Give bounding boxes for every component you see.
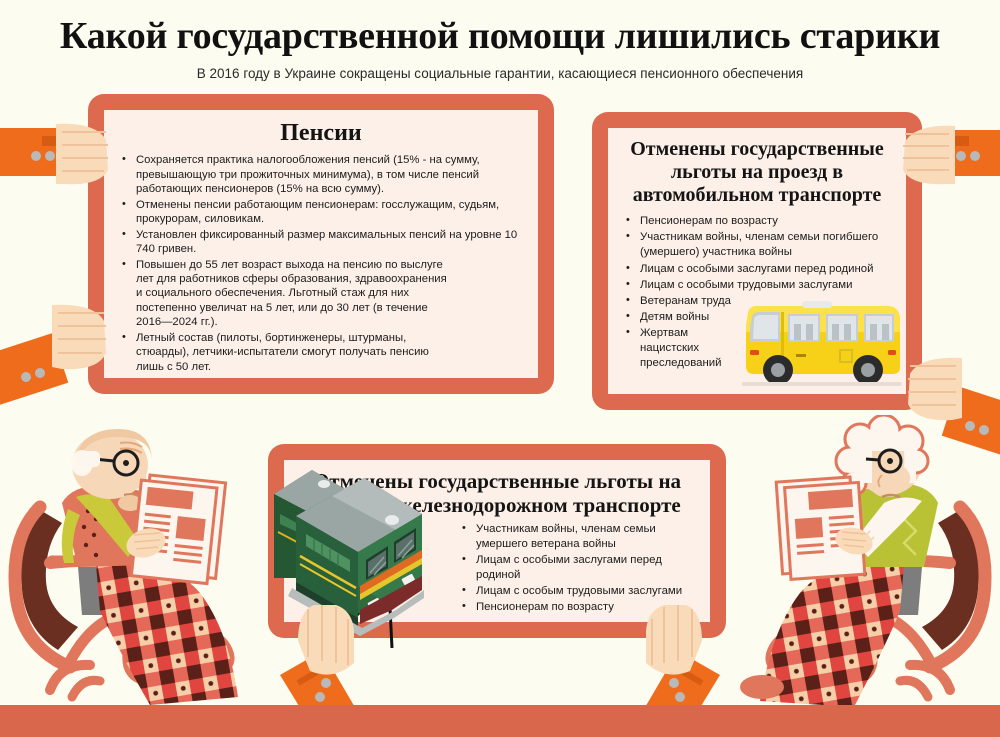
card-bus-panel: Отменены государственные льготы на проез…: [608, 128, 906, 394]
card-bus-heading: Отменены государственные льготы на проез…: [622, 138, 892, 206]
card-pensions-heading: Пенсии: [118, 120, 524, 147]
page-subtitle: В 2016 году в Украине сокращены социальн…: [0, 66, 1000, 81]
list-item: Жертвам нацистских преследований: [622, 326, 712, 371]
list-item: Лицам с особыми трудовыми заслугами: [622, 278, 892, 293]
list-item: Лицам с особыми заслугами перед родиной: [458, 553, 696, 583]
coins-illustration: ₴ ₴ ₴: [436, 210, 526, 330]
hand-left-upper: [0, 118, 120, 208]
card-pensions[interactable]: Пенсии Сохраняется практика налогообложе…: [88, 94, 554, 394]
floor-band: [0, 705, 1000, 737]
list-item: Участникам войны, членам семьи умершего …: [458, 522, 696, 552]
list-item: Сохраняется практика налогообложения пен…: [118, 153, 524, 196]
hand-left-lower: [0, 295, 130, 405]
page-title: Какой государственной помощи лишились ст…: [0, 14, 1000, 58]
infographic-canvas: Какой государственной помощи лишились ст…: [0, 0, 1000, 737]
hand-right-lower: [890, 350, 1000, 460]
card-bus[interactable]: Отменены государственные льготы на проез…: [592, 112, 922, 410]
list-item: Лицам с особыми заслугами перед родиной: [622, 262, 892, 277]
list-item: Участникам войны, членам семьи погибшего…: [622, 230, 892, 260]
card-train-bullets: Участникам войны, членам семьи умершего …: [458, 522, 696, 615]
list-item: Пенсионерам по возрасту: [622, 214, 892, 229]
list-item: Летный состав (пилоты, бортинженеры, шту…: [118, 331, 524, 374]
card-pensions-panel: Пенсии Сохраняется практика налогообложе…: [104, 110, 538, 378]
elderly-woman-illustration: [700, 415, 1000, 715]
hand-right-upper: [895, 120, 1000, 210]
list-item: Лицам с особым трудовыми заслугами: [458, 584, 696, 599]
elderly-man-illustration: [0, 415, 300, 715]
bus-illustration: [736, 296, 906, 392]
